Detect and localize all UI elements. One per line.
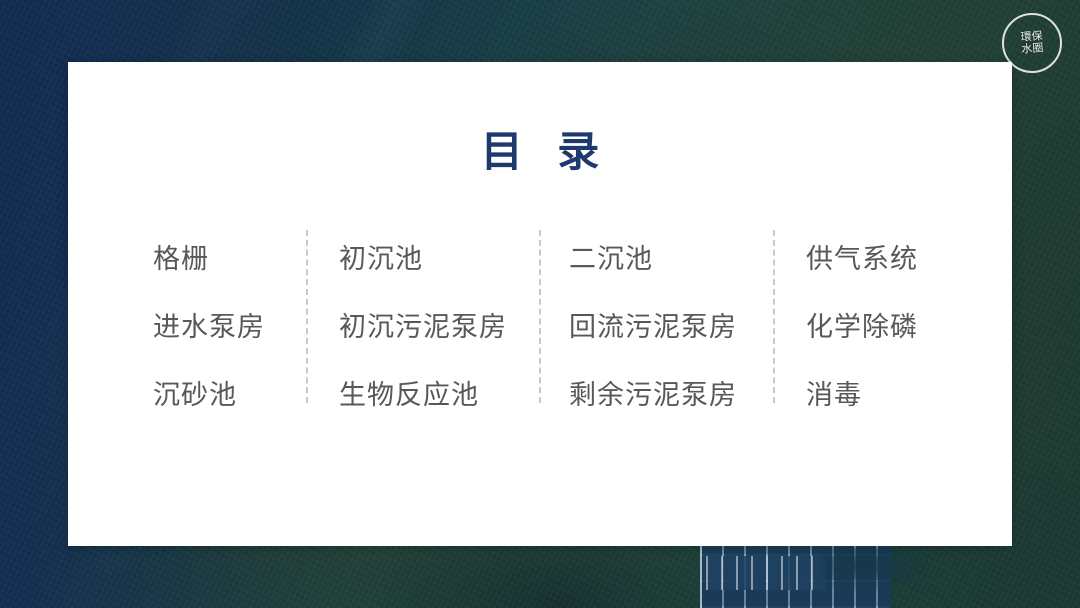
water-channel bbox=[820, 548, 970, 608]
toc-item[interactable]: 剩余污泥泵房 bbox=[569, 362, 773, 430]
toc-item[interactable]: 进水泵房 bbox=[153, 294, 306, 362]
toc-item[interactable]: 回流污泥泵房 bbox=[569, 294, 773, 362]
toc-item[interactable]: 初沉污泥泵房 bbox=[339, 294, 539, 362]
toc-item[interactable]: 消毒 bbox=[806, 362, 1012, 430]
column-divider-1 bbox=[306, 230, 308, 403]
column-divider-2 bbox=[539, 230, 541, 403]
page-title: 目 录 bbox=[68, 118, 1012, 179]
treatment-plant-tanks-secondary bbox=[706, 556, 826, 590]
toc-column-1: 格栅 进水泵房 沉砂池 bbox=[68, 226, 306, 430]
column-divider-3 bbox=[773, 230, 775, 403]
toc-item[interactable]: 供气系统 bbox=[806, 226, 1012, 294]
slide-root: 環保水圈 目 录 格栅 进水泵房 沉砂池 初沉池 初沉污泥泵房 生物反应池 二沉… bbox=[0, 0, 1080, 608]
toc-item[interactable]: 化学除磷 bbox=[806, 294, 1012, 362]
toc-item[interactable]: 格栅 bbox=[153, 226, 306, 294]
toc-columns: 格栅 进水泵房 沉砂池 初沉池 初沉污泥泵房 生物反应池 二沉池 回流污泥泵房 … bbox=[68, 226, 1012, 430]
toc-column-2: 初沉池 初沉污泥泵房 生物反应池 bbox=[306, 226, 539, 430]
toc-item[interactable]: 生物反应池 bbox=[339, 362, 539, 430]
toc-column-4: 供气系统 化学除磷 消毒 bbox=[773, 226, 1012, 430]
toc-column-3: 二沉池 回流污泥泵房 剩余污泥泵房 bbox=[539, 226, 773, 430]
toc-item[interactable]: 沉砂池 bbox=[153, 362, 306, 430]
content-card: 目 录 格栅 进水泵房 沉砂池 初沉池 初沉污泥泵房 生物反应池 二沉池 回流污… bbox=[68, 62, 1012, 546]
brand-logo-text: 環保水圈 bbox=[1016, 30, 1048, 56]
toc-item[interactable]: 二沉池 bbox=[569, 226, 773, 294]
toc-item[interactable]: 初沉池 bbox=[339, 226, 539, 294]
